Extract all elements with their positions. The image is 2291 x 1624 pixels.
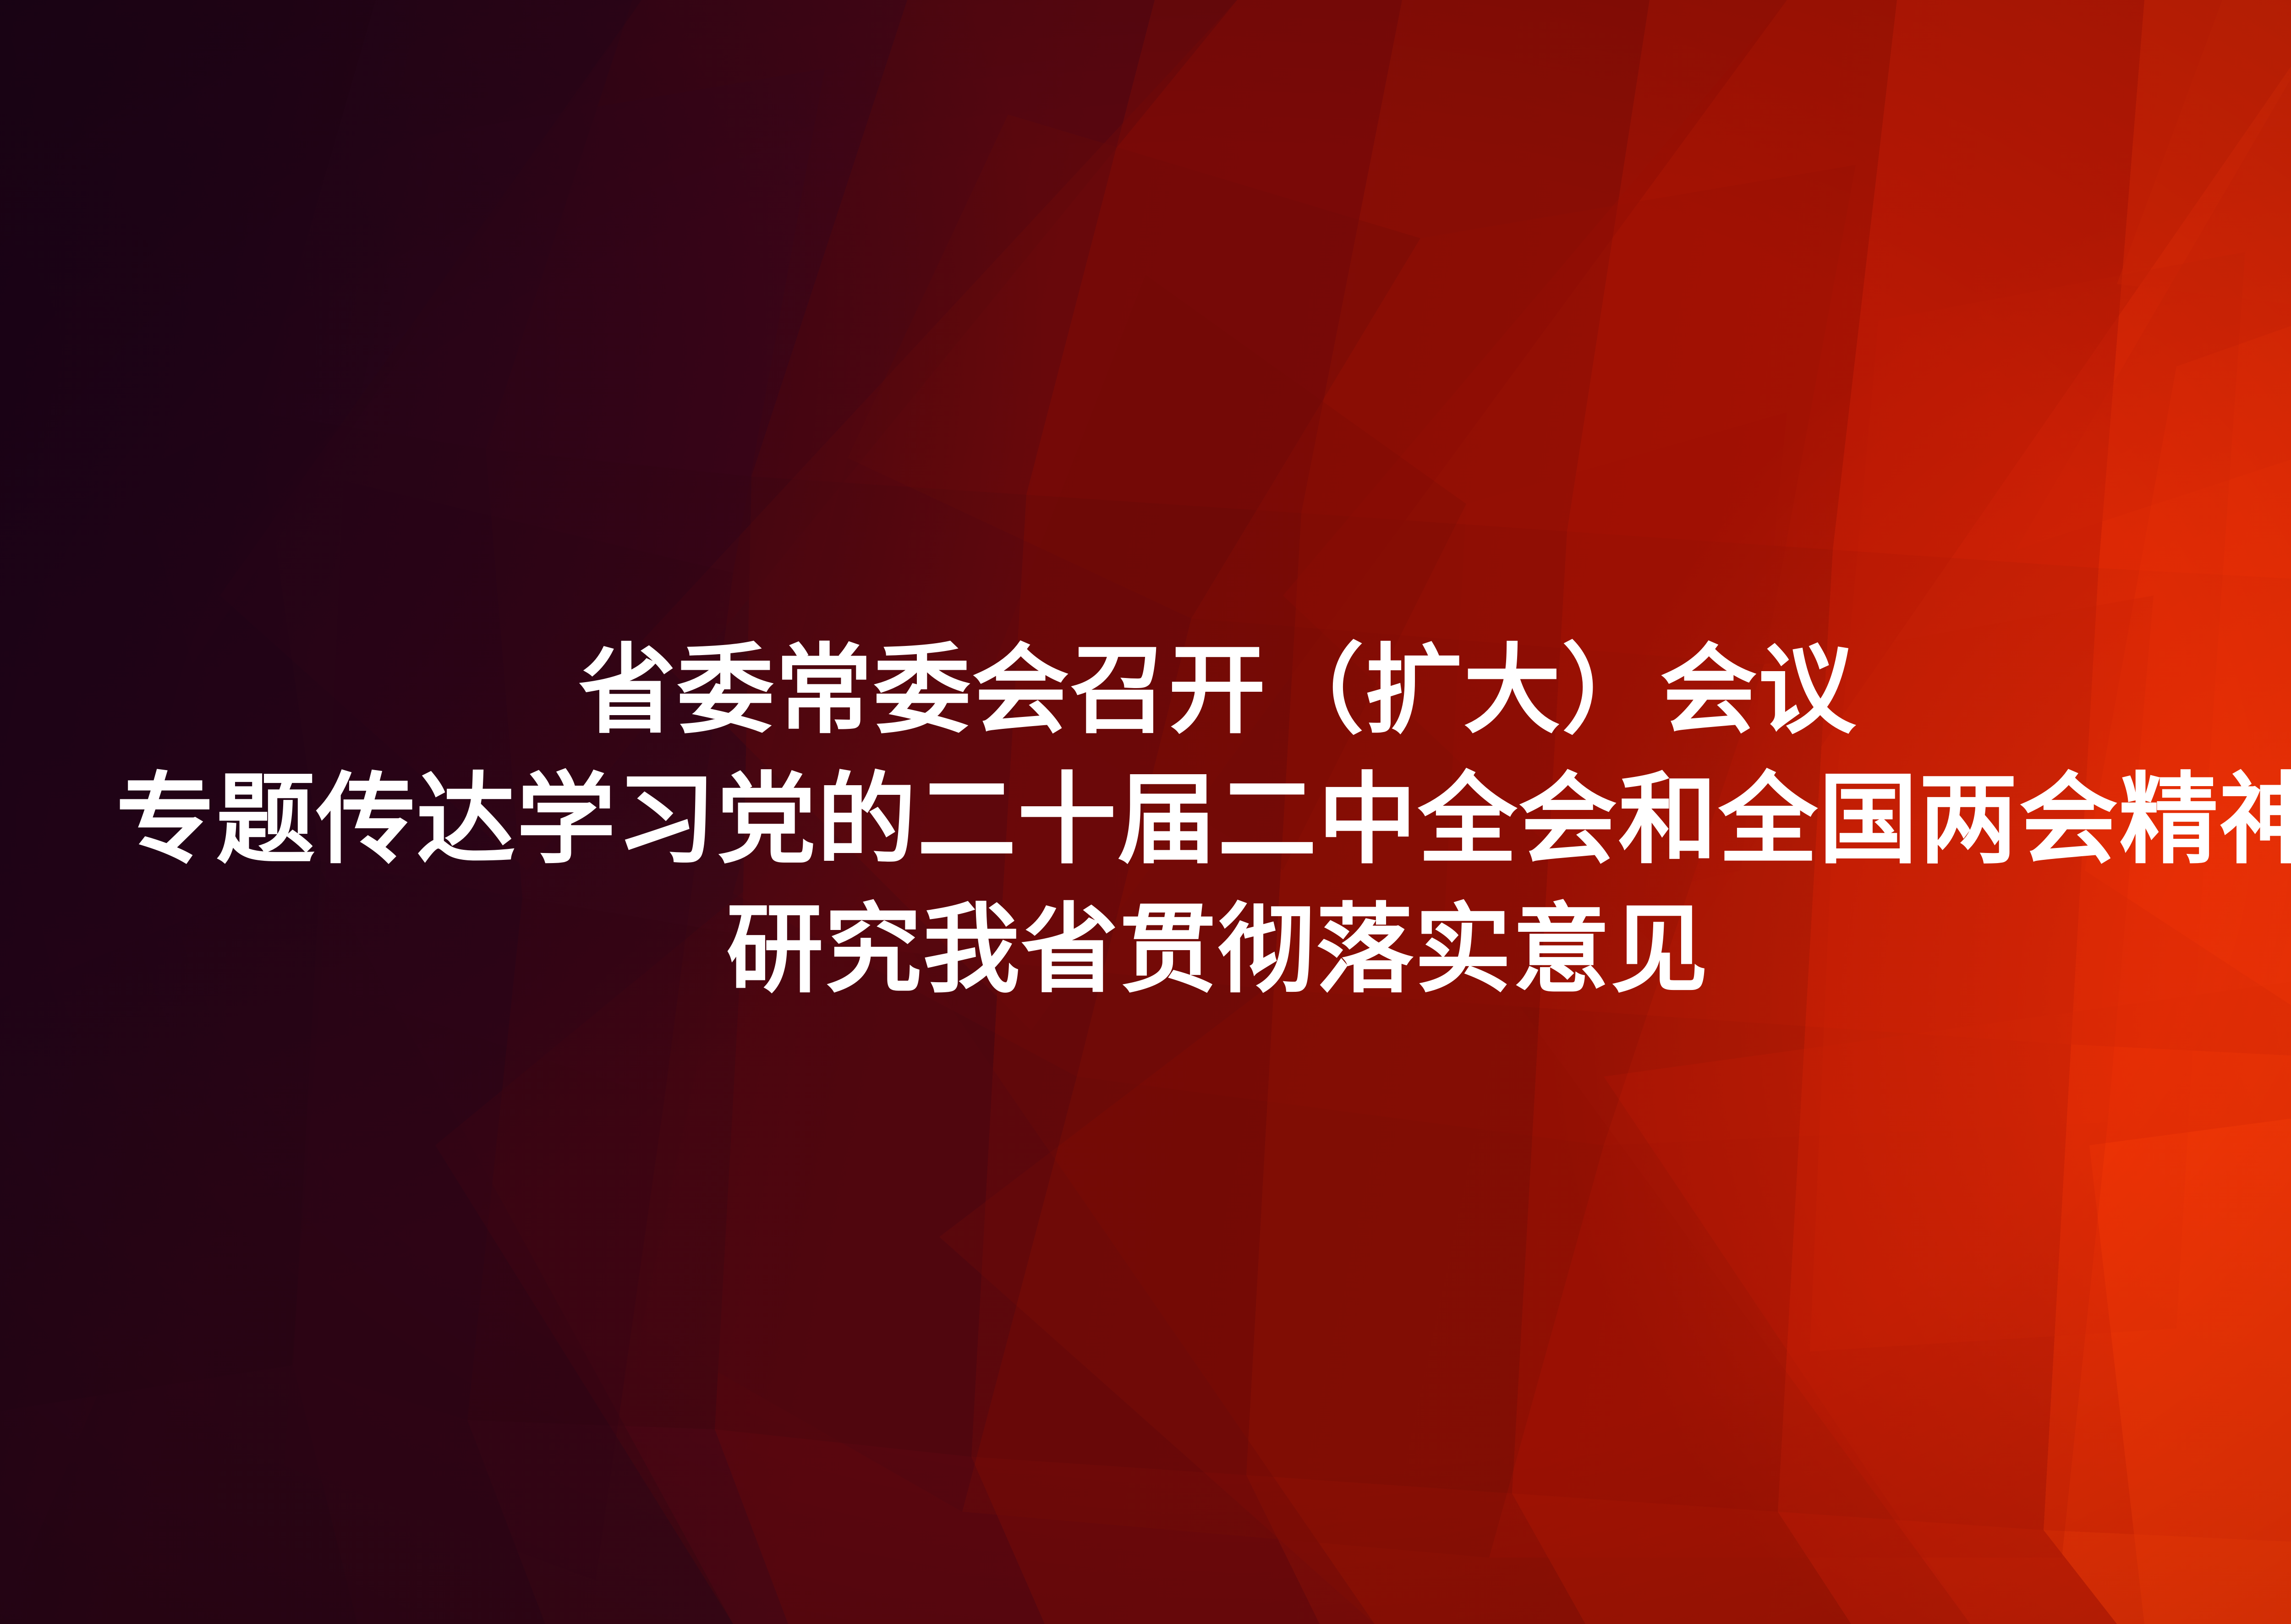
headline-block: 省委常委会召开（扩大）会议 专题传达学习党的二十届二中全会和全国两会精神 研究我… [0,627,2291,1015]
headline-line-3: 研究我省贯彻落实意见 [18,886,2291,1015]
headline-line-2: 专题传达学习党的二十届二中全会和全国两会精神 [18,756,2291,886]
banner-canvas: 省委常委会召开（扩大）会议 专题传达学习党的二十届二中全会和全国两会精神 研究我… [0,0,2291,1624]
headline-line-1: 省委常委会召开（扩大）会议 [18,627,2291,756]
